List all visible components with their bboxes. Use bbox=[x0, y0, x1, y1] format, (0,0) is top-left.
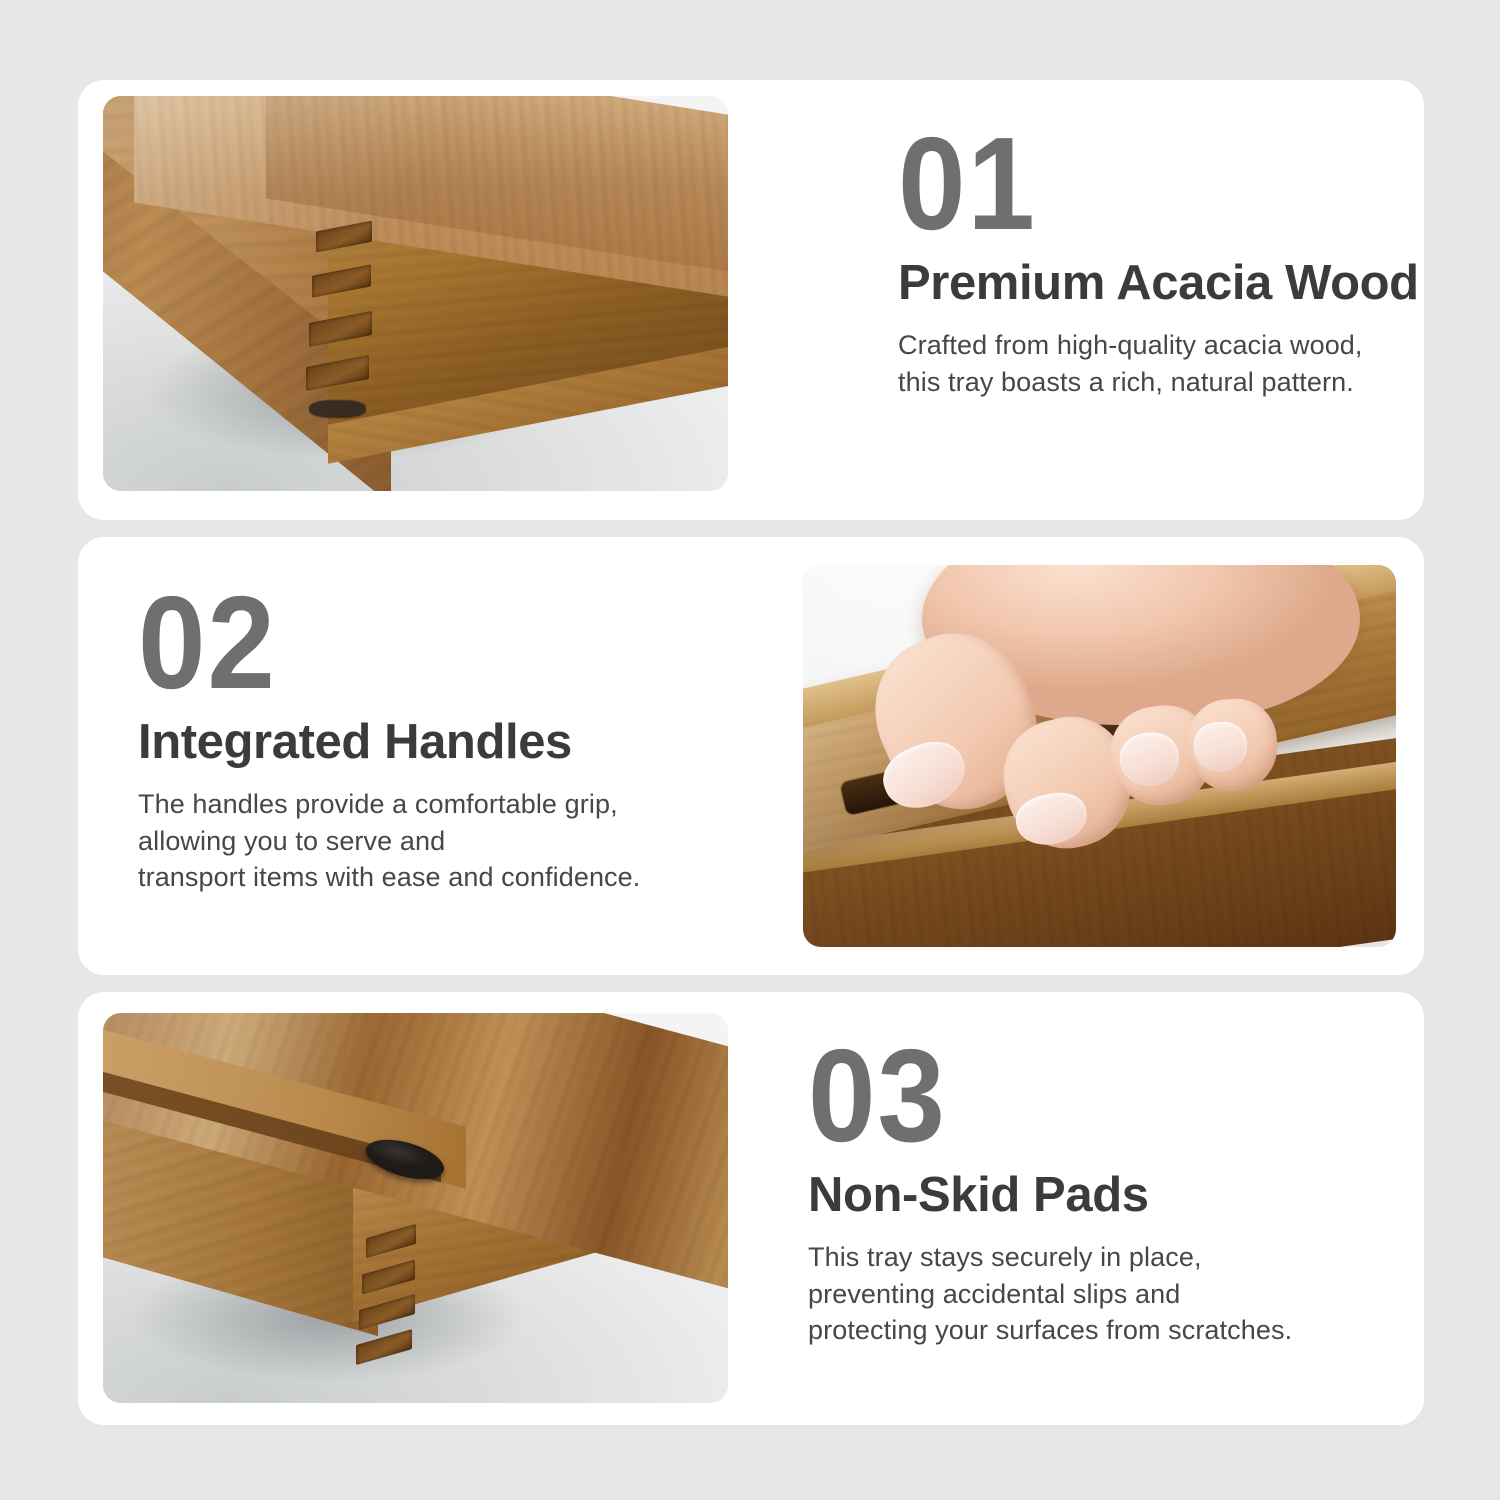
feature-description-01: Crafted from high-quality acacia wood, t… bbox=[898, 327, 1424, 400]
feature-title-03: Non-Skid Pads bbox=[808, 1168, 1424, 1223]
feature-text-3: 03 Non-Skid Pads This tray stays securel… bbox=[808, 1030, 1424, 1349]
non-skid-foot bbox=[309, 400, 365, 418]
feature-title-01: Premium Acacia Wood bbox=[898, 256, 1424, 311]
feature-infographic-page: 01 Premium Acacia Wood Crafted from high… bbox=[0, 0, 1500, 1500]
feature-text-2: 02 Integrated Handles The handles provid… bbox=[138, 577, 758, 896]
hand-gripping-handle bbox=[803, 565, 1396, 947]
feature-description-03: This tray stays securely in place, preve… bbox=[808, 1239, 1424, 1349]
product-image-acacia-tray-corner bbox=[103, 96, 728, 491]
product-image-non-skid-pad bbox=[103, 1013, 728, 1403]
feature-number-01: 01 bbox=[898, 118, 1424, 250]
feature-card-3: 03 Non-Skid Pads This tray stays securel… bbox=[78, 992, 1424, 1425]
product-image-integrated-handle bbox=[803, 565, 1396, 947]
feature-title-02: Integrated Handles bbox=[138, 715, 758, 770]
feature-description-02: The handles provide a comfortable grip, … bbox=[138, 786, 758, 896]
feature-card-2: 02 Integrated Handles The handles provid… bbox=[78, 537, 1424, 975]
feature-number-03: 03 bbox=[808, 1030, 1378, 1162]
feature-text-1: 01 Premium Acacia Wood Crafted from high… bbox=[898, 118, 1424, 400]
feature-card-1: 01 Premium Acacia Wood Crafted from high… bbox=[78, 80, 1424, 520]
feature-number-02: 02 bbox=[138, 577, 708, 709]
